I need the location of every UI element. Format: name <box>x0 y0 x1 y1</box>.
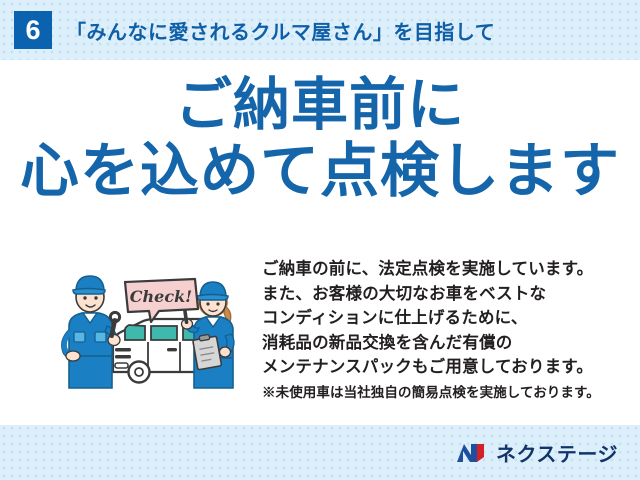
body-line-5: メンテナンスパックもご用意しております。 <box>262 355 634 380</box>
body-line-2: また、お客様の大切なお車をベストな <box>262 282 634 307</box>
body-line-3: コンディションに仕上げるために、 <box>262 306 634 331</box>
brand-name: ネクステージ <box>496 438 618 467</box>
nextage-logo: ネクステージ <box>455 438 618 467</box>
speech-bubble-text: Check! <box>130 287 192 306</box>
section-number-badge: 6 <box>14 11 52 49</box>
content-panel: ご納車前に 心を込めて点検します <box>0 60 640 425</box>
body-copy-block: ご納車の前に、法定点検を実施しています。 また、お客様の大切なお車をベストな コ… <box>262 257 634 404</box>
body-line-4: 消耗品の新品交換を含んだ有償の <box>262 331 634 356</box>
nextage-logo-mark <box>455 441 489 465</box>
body-footnote: ※未使用車は当社独自の簡易点検を実施しております。 <box>262 382 634 404</box>
headline-line-1: ご納車前に <box>0 76 640 134</box>
left-mechanic-figure <box>62 276 120 388</box>
footer-bar: ネクステージ <box>0 425 640 480</box>
header-bar: 6 「みんなに愛されるクルマ屋さん」を目指して <box>0 0 640 60</box>
advertisement-frame: 6 「みんなに愛されるクルマ屋さん」を目指して ご納車前に 心を込めて点検します <box>0 0 640 480</box>
headline-block: ご納車前に 心を込めて点検します <box>0 76 640 201</box>
headline-line-2: 心を込めて点検します <box>0 141 640 201</box>
header-title: 「みんなに愛されるクルマ屋さん」を目指して <box>66 16 495 45</box>
body-line-1: ご納車の前に、法定点検を実施しています。 <box>262 257 634 282</box>
mechanics-illustration: Check! <box>55 260 255 390</box>
